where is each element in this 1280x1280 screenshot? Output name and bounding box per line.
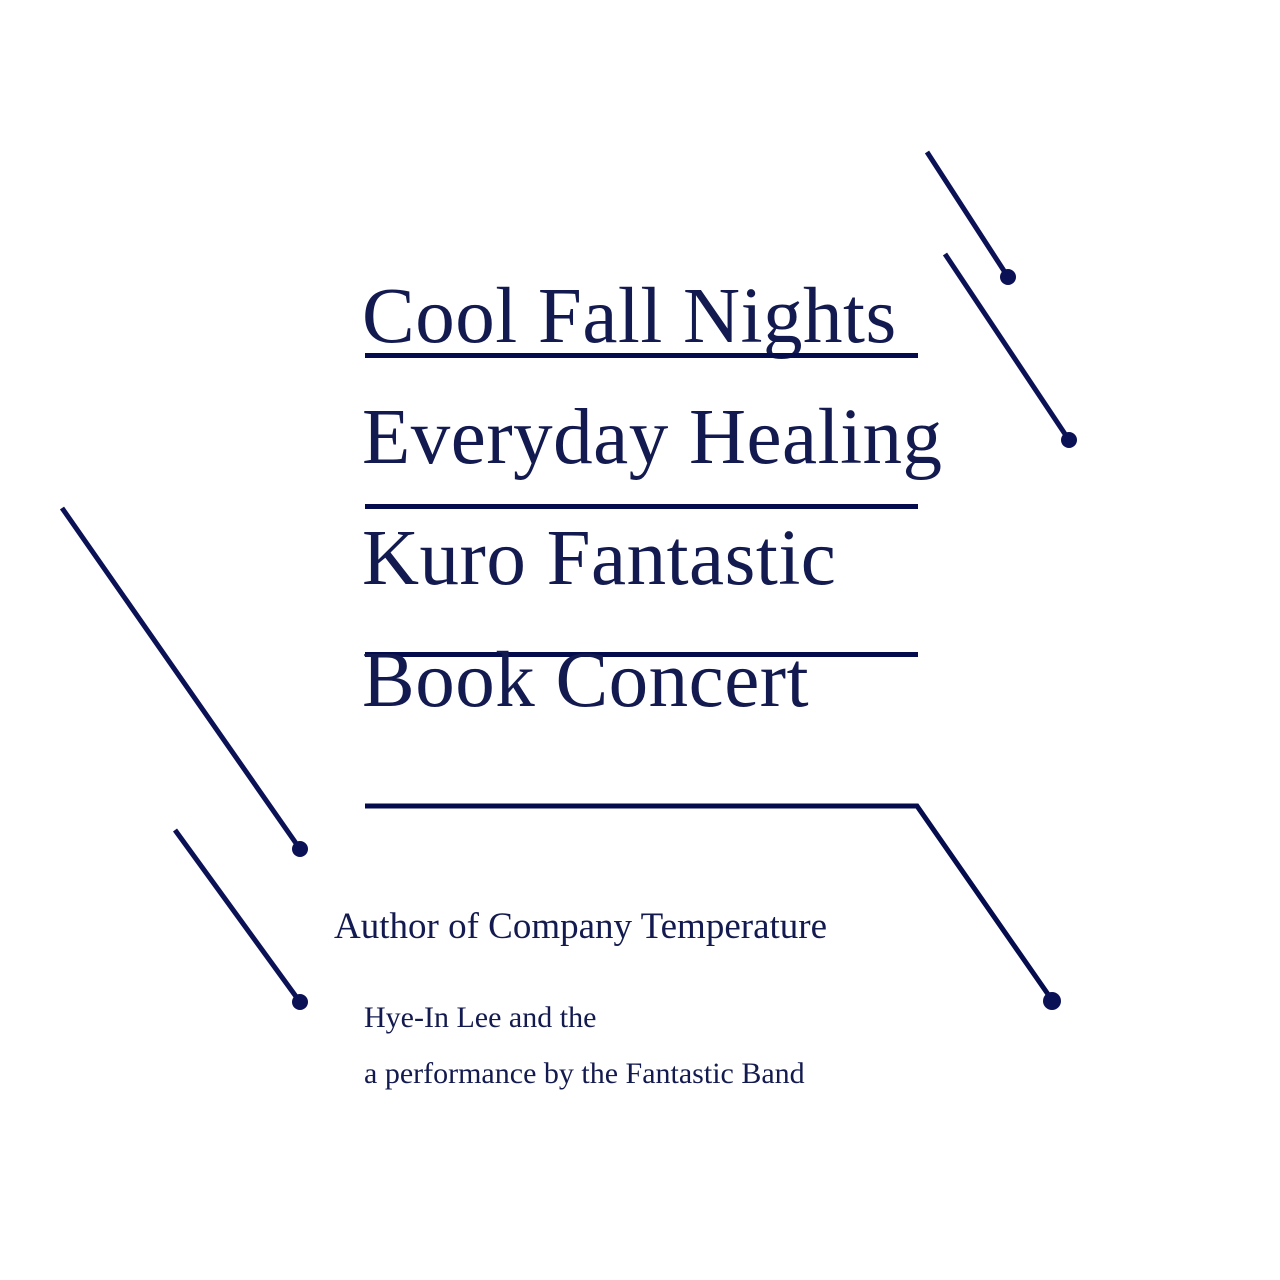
title-line-4: Book Concert <box>362 641 809 720</box>
pin-dot-top-right-upper <box>1000 269 1016 285</box>
pin-line-top-right-lower-group <box>945 254 1077 448</box>
title-line-3: Kuro Fantastic <box>362 519 836 598</box>
bent-rule-bottom <box>365 806 1052 1000</box>
title-line-2: Everyday Healing <box>362 398 943 477</box>
pin-line-top-right-upper <box>927 152 1008 277</box>
rule-under-title-line-1 <box>365 353 918 358</box>
pin-line-left-lower <box>175 830 300 1002</box>
credit-performer-line-2: a performance by the Fantastic Band <box>364 1059 805 1089</box>
pin-dot-left-lower <box>292 994 308 1010</box>
title-line-1: Cool Fall Nights <box>362 277 897 356</box>
credit-performer-line-1: Hye-In Lee and the <box>364 1003 596 1033</box>
pin-dot-bent-rule-bottom <box>1043 992 1061 1010</box>
pin-line-left-upper-group <box>62 508 308 857</box>
credit-author-line: Author of Company Temperature <box>334 908 827 945</box>
pin-line-left-lower-group <box>175 830 308 1010</box>
pin-line-top-right-lower <box>945 254 1069 440</box>
pin-line-top-right-upper-group <box>927 152 1016 285</box>
pin-dot-left-upper <box>292 841 308 857</box>
pin-line-left-upper <box>62 508 300 849</box>
poster-canvas: Cool Fall Nights Everyday Healing Kuro F… <box>0 0 1280 1280</box>
pin-dot-top-right-lower <box>1061 432 1077 448</box>
rule-under-title-line-2 <box>365 504 918 509</box>
